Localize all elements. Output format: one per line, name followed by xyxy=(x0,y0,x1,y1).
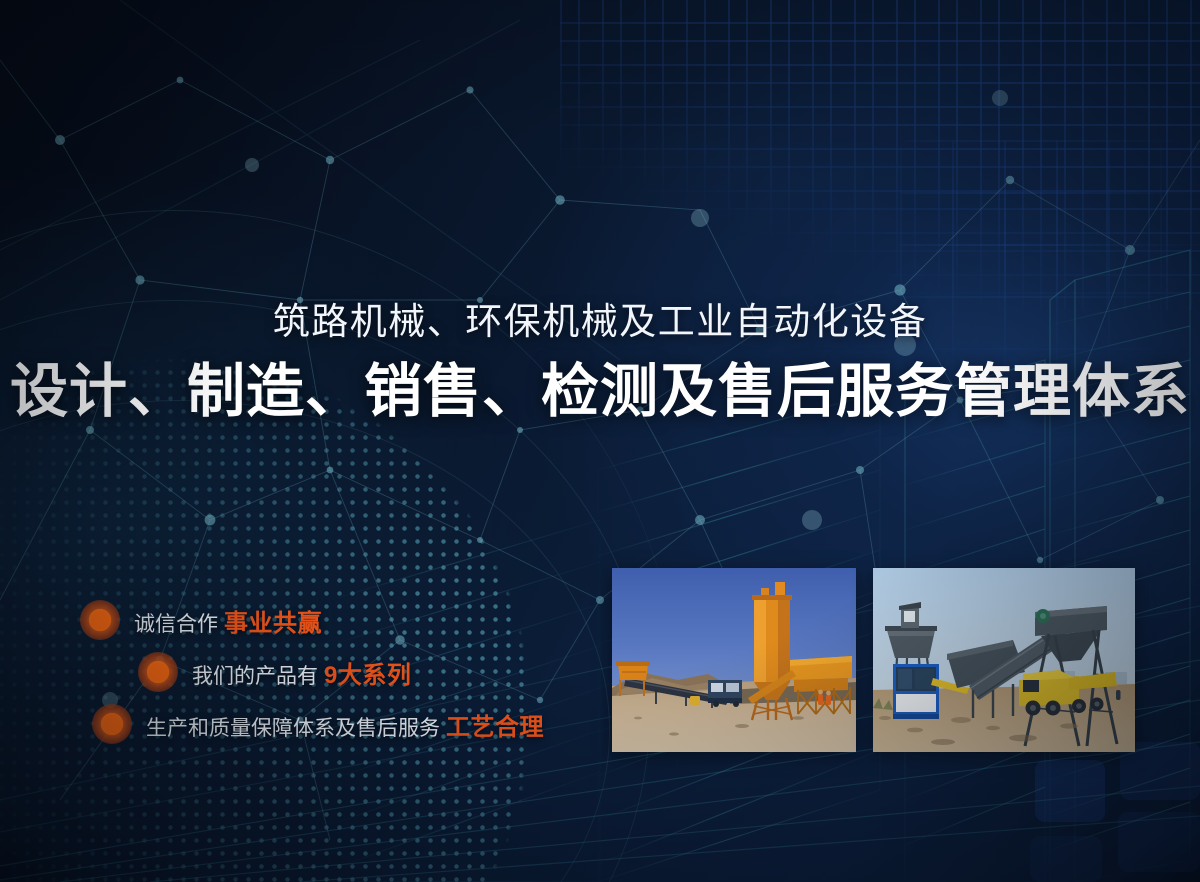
bullet-text-plain: 我们的产品有 xyxy=(192,665,318,688)
page-title: 设计、制造、销售、检测及售后服务管理体系 xyxy=(0,359,1200,425)
list-item: 生产和质量保障体系及售后服务工艺合理 xyxy=(0,700,600,748)
orange-dot-icon xyxy=(138,652,178,692)
mobile-batching-plant-photo xyxy=(873,568,1135,752)
bullet-label: 我们的产品有9大系列 xyxy=(192,655,411,690)
concrete-batching-plant-photo xyxy=(612,568,856,752)
feature-bullet-list: 诚信合作事业共赢 我们的产品有9大系列 生产和质量保障体系及售后服务工艺合理 xyxy=(0,596,600,748)
bullet-text-highlight: 工艺合理 xyxy=(446,714,544,741)
bullet-text-highlight: 9大系列 xyxy=(324,662,411,689)
bullet-text-plain: 诚信合作 xyxy=(134,613,218,636)
list-item: 我们的产品有9大系列 xyxy=(0,648,600,696)
bullet-label: 诚信合作事业共赢 xyxy=(134,603,322,638)
headline-block: 筑路机械、环保机械及工业自动化设备 设计、制造、销售、检测及售后服务管理体系 xyxy=(0,300,1200,425)
headline-subtitle: 筑路机械、环保机械及工业自动化设备 xyxy=(0,300,1200,344)
orange-dot-icon xyxy=(92,704,132,744)
orange-dot-icon xyxy=(80,600,120,640)
list-item: 诚信合作事业共赢 xyxy=(0,596,600,644)
bullet-label: 生产和质量保障体系及售后服务工艺合理 xyxy=(146,707,544,742)
bullet-text-plain: 生产和质量保障体系及售后服务 xyxy=(146,717,440,740)
hero-banner: 筑路机械、环保机械及工业自动化设备 设计、制造、销售、检测及售后服务管理体系 诚… xyxy=(0,0,1200,882)
bullet-text-highlight: 事业共赢 xyxy=(224,610,322,637)
